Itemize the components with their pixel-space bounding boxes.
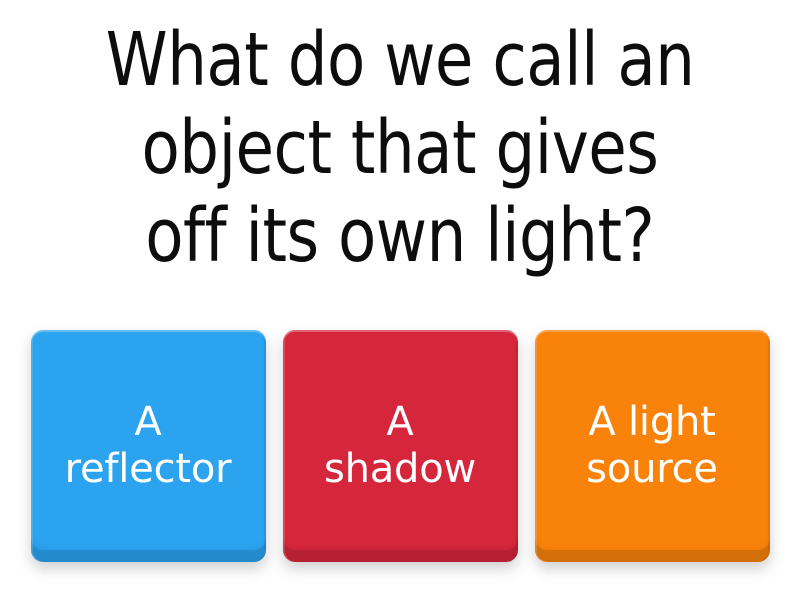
answer-card-reflector[interactable]: A reflector — [31, 330, 266, 562]
answer-card-shadow-line-2: shadow — [324, 446, 476, 493]
answer-card-light-source-label: A light source — [576, 399, 728, 493]
answer-card-light-source-line-2: source — [586, 446, 718, 493]
question-line-2: object that gives — [142, 104, 659, 192]
answer-card-reflector-line-2: reflector — [65, 446, 232, 493]
answer-card-reflector-label: A reflector — [55, 399, 242, 493]
answer-card-light-source-line-1: A light — [586, 399, 718, 446]
quiz-screen: What do we call an object that gives off… — [0, 0, 800, 600]
question-block: What do we call an object that gives off… — [0, 0, 800, 312]
question-line-1: What do we call an — [106, 16, 695, 104]
answer-card-shadow[interactable]: A shadow — [283, 330, 518, 562]
answer-options-row: A reflector A shadow A light source — [0, 330, 800, 570]
question-line-3: off its own light? — [145, 192, 654, 280]
answer-card-reflector-line-1: A — [65, 399, 232, 446]
answer-card-shadow-line-1: A — [324, 399, 476, 446]
answer-card-shadow-label: A shadow — [314, 399, 486, 493]
answer-card-light-source[interactable]: A light source — [535, 330, 770, 562]
